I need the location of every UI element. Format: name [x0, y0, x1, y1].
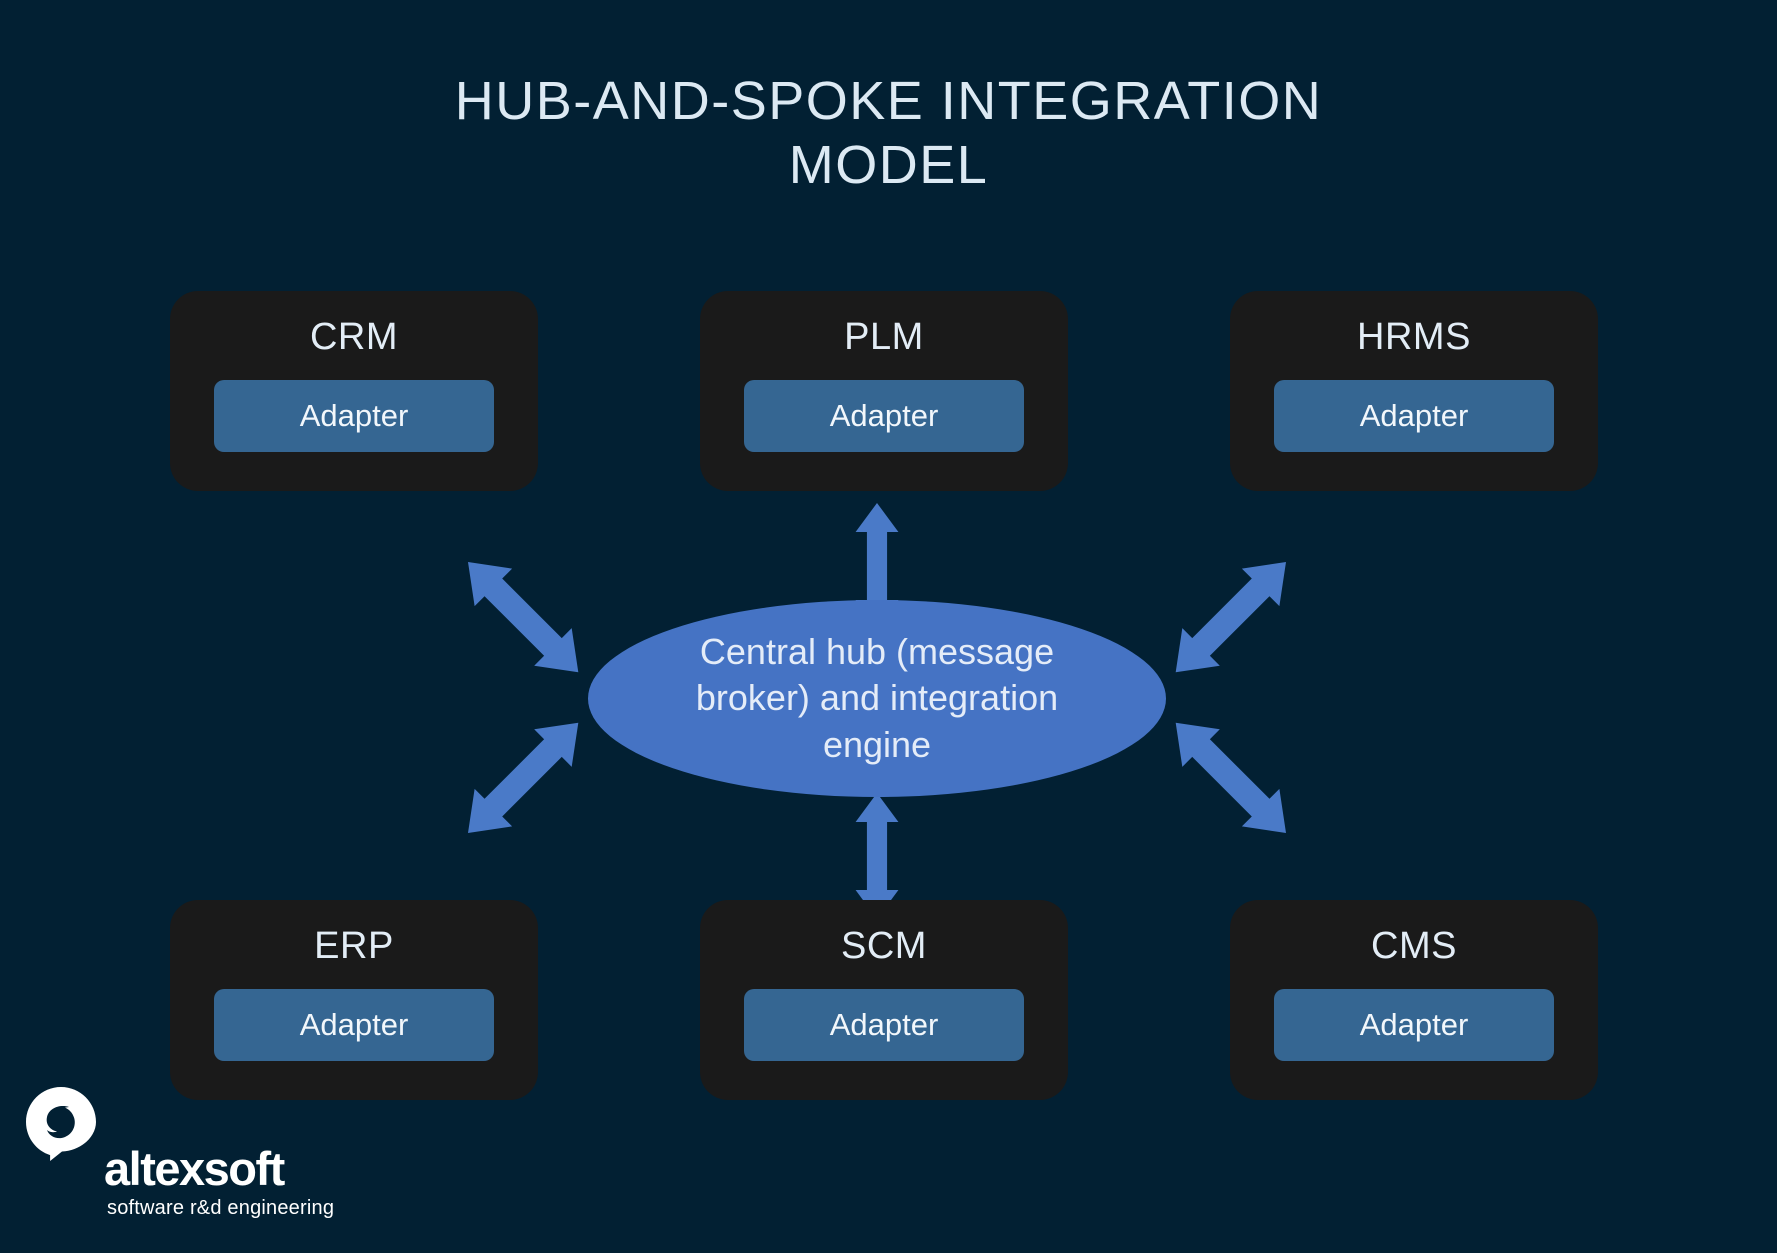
system-box-scm[interactable]: SCM Adapter: [700, 900, 1068, 1100]
page-title: HUB-AND-SPOKE INTEGRATION MODEL: [0, 70, 1777, 197]
system-box-hrms[interactable]: HRMS Adapter: [1230, 291, 1598, 491]
connector-hub-hrms: [1157, 543, 1305, 691]
central-hub-label: Central hub (message broker) and integra…: [642, 629, 1112, 767]
diagram-canvas: HUB-AND-SPOKE INTEGRATION MODEL: [0, 0, 1777, 1253]
system-box-plm[interactable]: PLM Adapter: [700, 291, 1068, 491]
adapter-button-scm[interactable]: Adapter: [744, 989, 1024, 1061]
system-box-crm[interactable]: CRM Adapter: [170, 291, 538, 491]
system-label: HRMS: [1357, 318, 1471, 356]
connector-hub-erp: [449, 704, 597, 852]
logo-wordmark: altexsoft: [104, 1145, 284, 1192]
adapter-button-plm[interactable]: Adapter: [744, 380, 1024, 452]
adapter-button-erp[interactable]: Adapter: [214, 989, 494, 1061]
connector-hub-crm: [449, 543, 597, 691]
system-label: CMS: [1371, 927, 1457, 965]
system-box-erp[interactable]: ERP Adapter: [170, 900, 538, 1100]
adapter-button-cms[interactable]: Adapter: [1274, 989, 1554, 1061]
connector-hub-cms: [1157, 704, 1305, 852]
logo-tagline: software r&d engineering: [107, 1198, 334, 1218]
system-label: SCM: [841, 927, 927, 965]
altexsoft-logo-icon: [22, 1085, 100, 1163]
adapter-button-hrms[interactable]: Adapter: [1274, 380, 1554, 452]
altexsoft-logo: altexsoft software r&d engineering: [22, 1085, 352, 1230]
adapter-button-crm[interactable]: Adapter: [214, 380, 494, 452]
system-label: ERP: [314, 927, 394, 965]
system-label: CRM: [310, 318, 398, 356]
system-box-cms[interactable]: CMS Adapter: [1230, 900, 1598, 1100]
system-label: PLM: [844, 318, 924, 356]
central-hub-node[interactable]: Central hub (message broker) and integra…: [588, 600, 1166, 797]
